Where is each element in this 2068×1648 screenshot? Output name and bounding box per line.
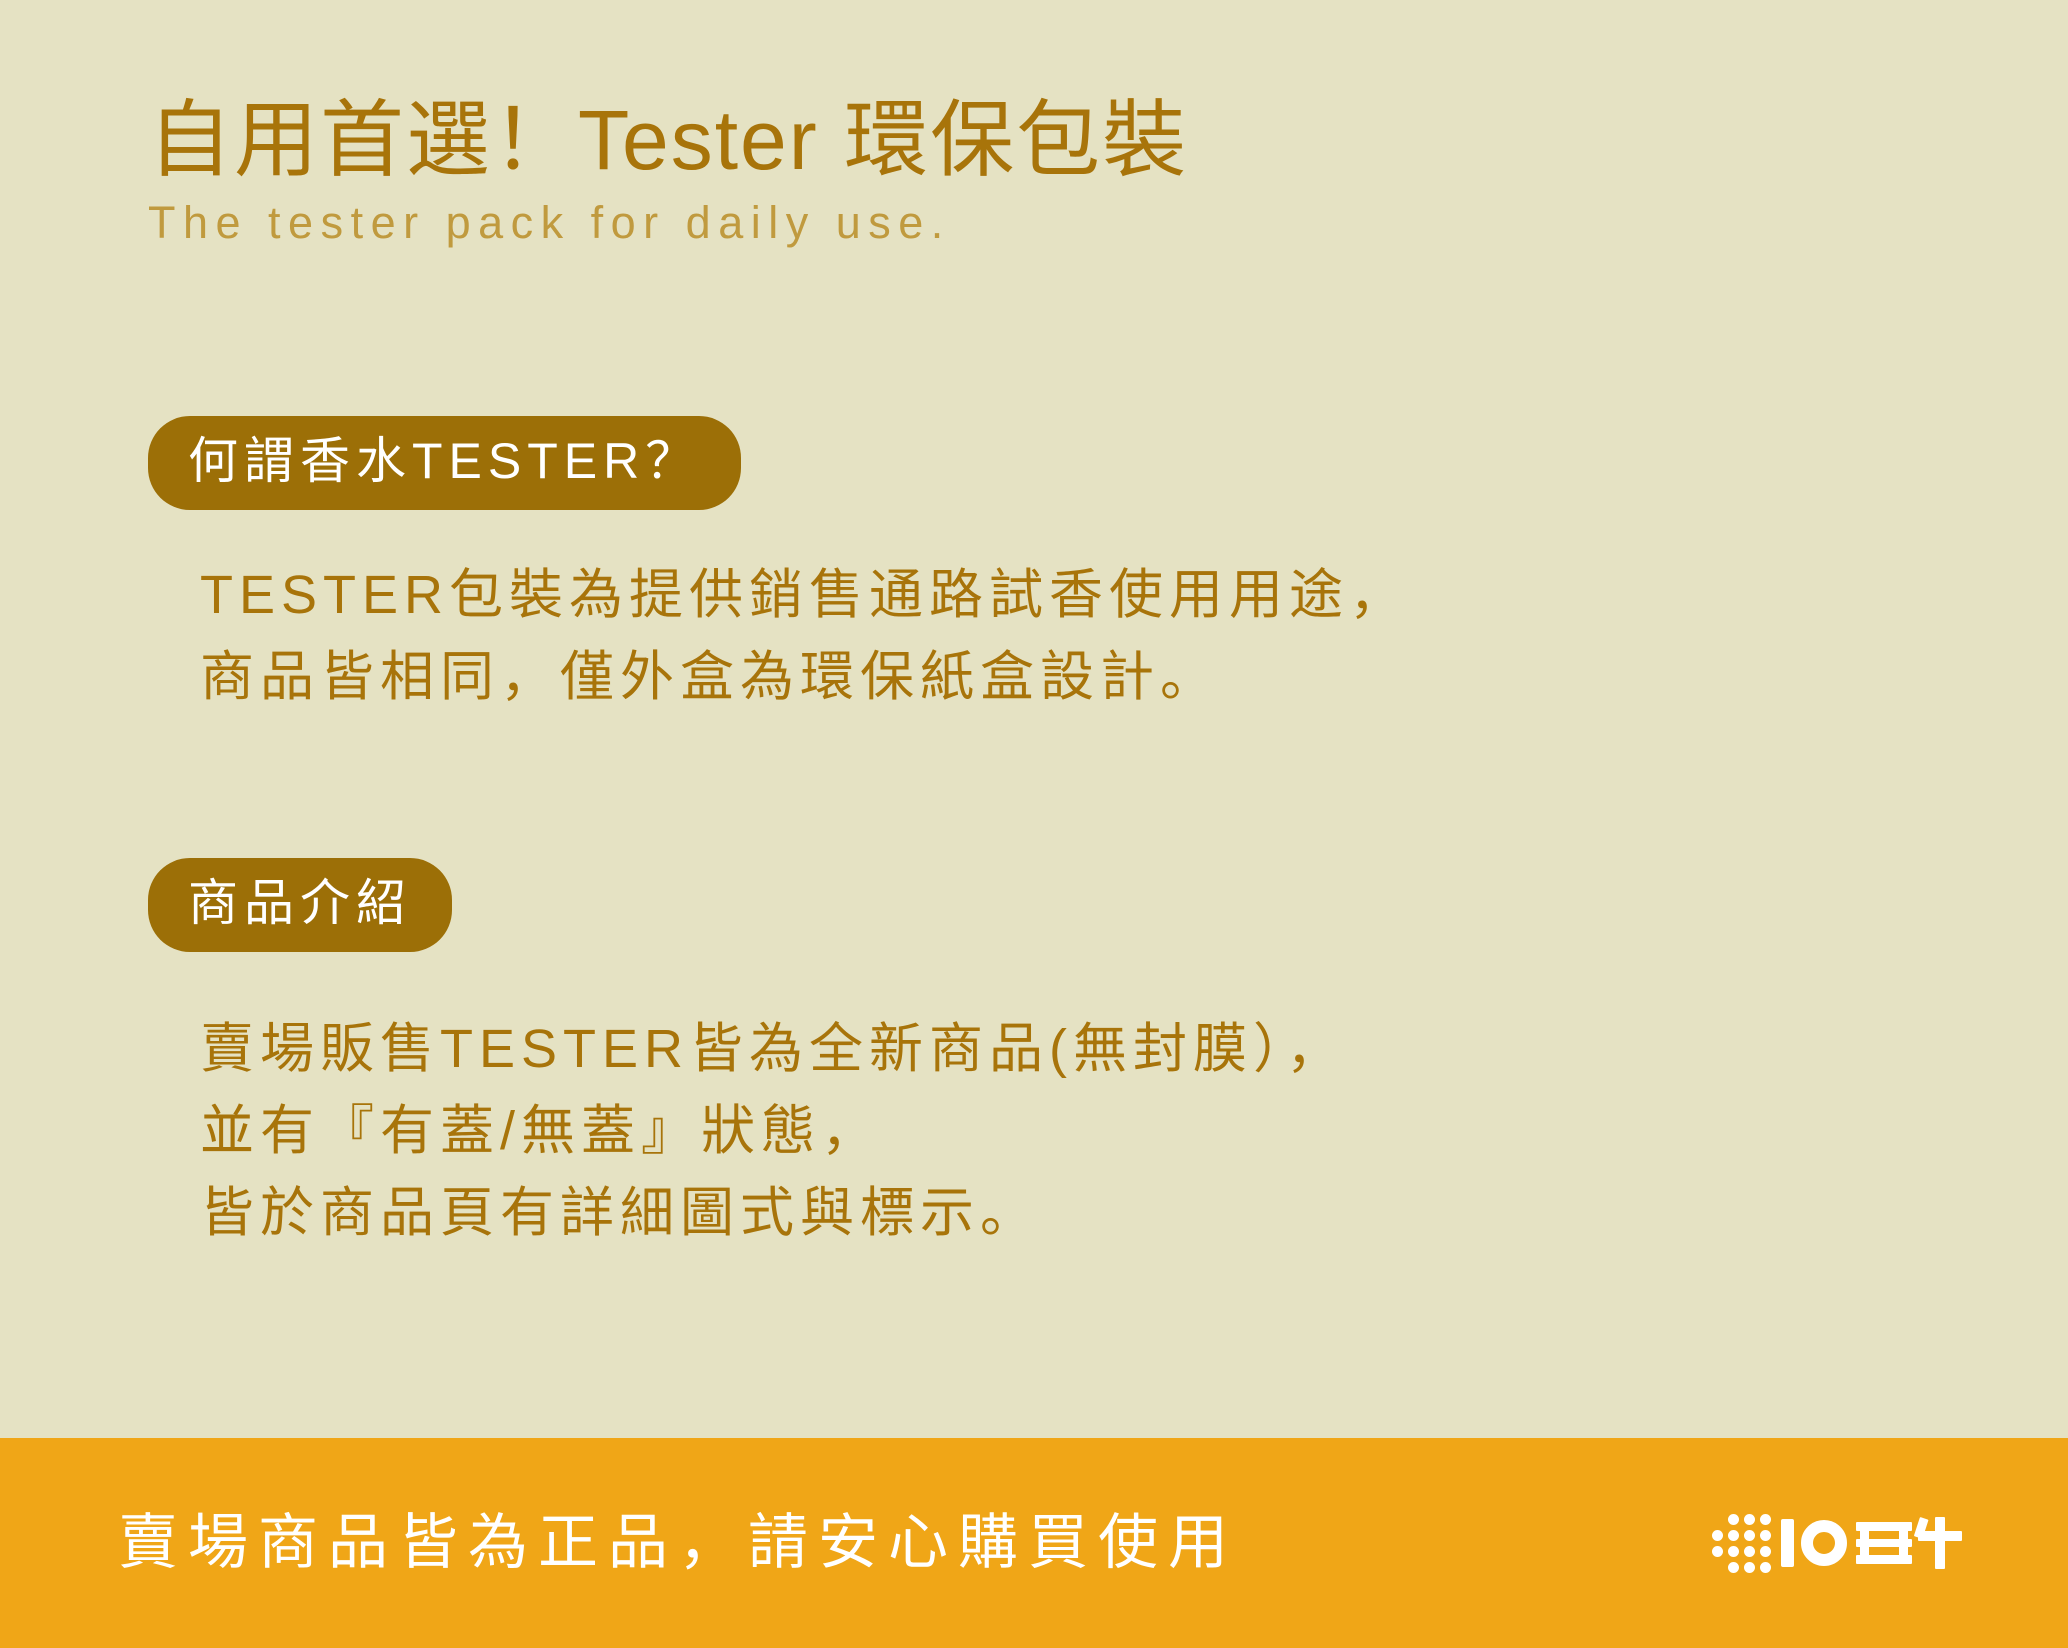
body-line: 皆於商品頁有詳細圖式與標示。: [200, 1172, 1978, 1254]
section-heading-badge: 商品介紹: [148, 858, 452, 952]
section-what-is-tester: 何謂香水TESTER？ TESTER包裝為提供銷售通路試香使用用途， 商品皆相同…: [148, 416, 1978, 718]
bottom-banner-message: 賣場商品皆為正品，請安心購買使用: [118, 1513, 1238, 1573]
page-title: 自用首選！Tester 環保包裝: [148, 96, 1948, 184]
section-body: 賣場販售TESTER皆為全新商品(無封膜）， 並有『有蓋/無蓋』狀態， 皆於商品…: [200, 1008, 1978, 1254]
logo-cross-icon: [1918, 1517, 1962, 1569]
logo-glyph-icon: [1856, 1518, 1912, 1568]
header: 自用首選！Tester 環保包裝 The tester pack for dai…: [148, 96, 1948, 248]
body-line: 商品皆相同，僅外盒為環保紙盒設計。: [200, 636, 1978, 718]
bottom-banner: 賣場商品皆為正品，請安心購買使用: [0, 1438, 2068, 1648]
promo-banner: 自用首選！Tester 環保包裝 The tester pack for dai…: [0, 0, 2068, 1648]
section-product-intro: 商品介紹 賣場販售TESTER皆為全新商品(無封膜）， 並有『有蓋/無蓋』狀態，…: [148, 858, 1978, 1254]
body-line: 並有『有蓋/無蓋』狀態，: [200, 1090, 1978, 1172]
brand-logo-icon: [1712, 1510, 1962, 1576]
section-body: TESTER包裝為提供銷售通路試香使用用途， 商品皆相同，僅外盒為環保紙盒設計。: [200, 554, 1978, 718]
logo-ring-icon: [1801, 1520, 1847, 1566]
logo-bar-icon: [1781, 1519, 1794, 1567]
body-line: 賣場販售TESTER皆為全新商品(無封膜），: [200, 1008, 1978, 1090]
section-heading-badge: 何謂香水TESTER？: [148, 416, 741, 510]
body-line: TESTER包裝為提供銷售通路試香使用用途，: [200, 554, 1978, 636]
page-subtitle: The tester pack for daily use.: [148, 198, 1948, 248]
logo-dot-grid-icon: [1712, 1514, 1771, 1573]
logo-wordmark-icon: [1781, 1517, 1962, 1569]
